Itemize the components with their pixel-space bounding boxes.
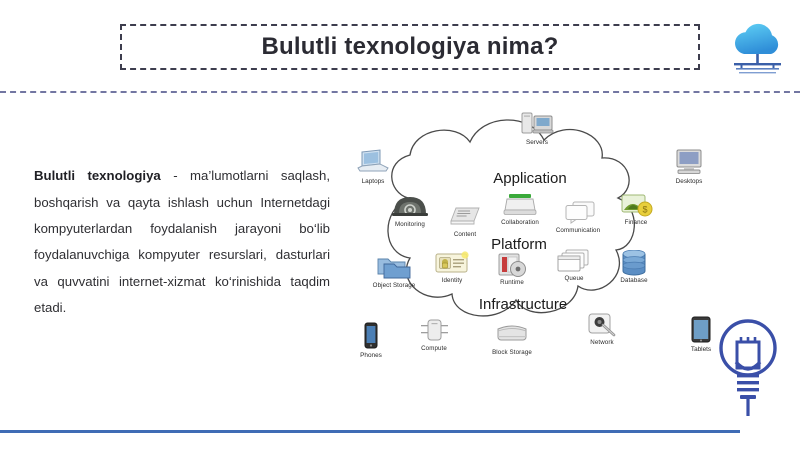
communication-icon xyxy=(546,200,610,226)
server-icon xyxy=(508,109,566,139)
node-label: Identity xyxy=(420,277,484,284)
cloud-network-icon xyxy=(722,14,794,80)
finance-icon: $ xyxy=(604,192,668,218)
node-runtime[interactable]: Runtime xyxy=(480,252,544,286)
cloud-diagram: Application Platform Infrastructure Moni… xyxy=(330,100,730,390)
body-paragraph: Bulutli texnologiya - ma’lumotlarni saql… xyxy=(34,163,330,321)
collaboration-icon xyxy=(488,192,552,218)
object-storage-icon xyxy=(362,255,426,281)
node-finance[interactable]: $ Finance xyxy=(604,192,668,226)
svg-text:$: $ xyxy=(642,205,647,215)
queue-icon xyxy=(542,248,606,274)
node-label: Runtime xyxy=(480,279,544,286)
device-desktops[interactable]: Desktops xyxy=(660,148,718,185)
node-database[interactable]: Database xyxy=(602,250,666,284)
identity-icon xyxy=(420,250,484,276)
node-label: Object Storage xyxy=(362,282,426,289)
runtime-icon xyxy=(480,252,544,278)
device-label: Desktops xyxy=(660,178,718,185)
node-identity[interactable]: Identity xyxy=(420,250,484,284)
node-label: Database xyxy=(602,277,666,284)
node-label: Block Storage xyxy=(480,349,544,356)
device-laptops[interactable]: Laptops xyxy=(344,148,402,185)
node-label: Compute xyxy=(402,345,466,352)
phone-icon xyxy=(342,322,400,352)
node-network[interactable]: Network xyxy=(570,312,634,346)
lead-term: Bulutli texnologiya xyxy=(34,168,161,183)
page-title: Bulutli texnologiya nima? xyxy=(261,33,558,61)
device-phones[interactable]: Phones xyxy=(342,322,400,359)
device-label: Laptops xyxy=(344,178,402,185)
lightbulb-icon xyxy=(706,312,790,422)
node-object-storage[interactable]: Object Storage xyxy=(362,255,426,289)
bottom-accent-rule xyxy=(0,430,740,433)
network-icon xyxy=(570,312,634,338)
body-copy: - ma’lumotlarni saqlash, boshqarish va q… xyxy=(34,168,330,315)
laptop-icon xyxy=(344,148,402,178)
device-servers[interactable]: Servers xyxy=(508,109,566,146)
layer-label-infrastructure: Infrastructure xyxy=(330,296,716,313)
node-queue[interactable]: Queue xyxy=(542,248,606,282)
node-label: Finance xyxy=(604,219,668,226)
device-label: Phones xyxy=(342,352,400,359)
node-label: Queue xyxy=(542,275,606,282)
node-label: Network xyxy=(570,339,634,346)
title-box: Bulutli texnologiya nima? xyxy=(120,24,700,70)
block-storage-icon xyxy=(480,322,544,348)
node-collaboration[interactable]: Collaboration xyxy=(488,192,552,226)
node-compute[interactable]: Compute xyxy=(402,318,466,352)
node-label: Communication xyxy=(546,227,610,234)
node-communication[interactable]: Communication xyxy=(546,200,610,234)
node-label: Content xyxy=(433,231,497,238)
slide-canvas: Bulutli texnologiya nima? Bulutli texnol… xyxy=(0,0,800,449)
device-label: Servers xyxy=(508,139,566,146)
node-label: Collaboration xyxy=(488,219,552,226)
compute-icon xyxy=(402,318,466,344)
desktop-icon xyxy=(660,148,718,178)
node-block-storage[interactable]: Block Storage xyxy=(480,322,544,356)
database-icon xyxy=(602,250,666,276)
header-divider xyxy=(0,91,800,93)
